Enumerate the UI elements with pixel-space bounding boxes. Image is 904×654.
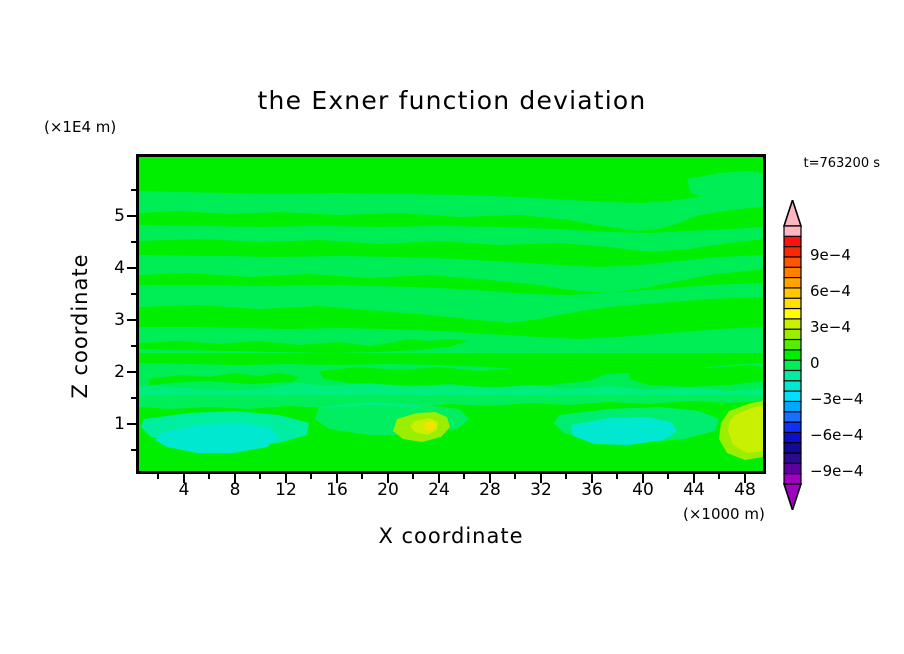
x-ticklabel: 20: [366, 480, 410, 500]
x-ticklabel: 16: [315, 480, 359, 500]
x-tick-minor: [361, 474, 363, 479]
colorbar-label: −3e−4: [810, 390, 863, 408]
x-ticklabel: 44: [672, 480, 716, 500]
x-tick-minor: [565, 474, 567, 479]
timestamp-label: t=763200 s: [803, 156, 880, 171]
y-ticklabel: 5: [95, 206, 125, 226]
x-axis-unit-label: (×1000 m): [683, 505, 765, 523]
colorbar: [783, 200, 802, 510]
y-ticklabel: 1: [95, 414, 125, 434]
x-ticklabel: 36: [570, 480, 614, 500]
y-axis-title: Z coordinate: [68, 226, 92, 426]
x-tick-minor: [514, 474, 516, 479]
y-tick-minor: [131, 397, 136, 399]
y-tick-minor: [131, 241, 136, 243]
y-tick-minor: [131, 449, 136, 451]
y-ticklabel: 2: [95, 362, 125, 382]
x-ticklabel: 28: [468, 480, 512, 500]
x-tick-minor: [463, 474, 465, 479]
colorbar-scale: [783, 200, 802, 510]
z-axis-unit-label: (×1E4 m): [44, 118, 116, 136]
x-tick-minor: [310, 474, 312, 479]
page-title: the Exner function deviation: [0, 86, 904, 115]
colorbar-label: 9e−4: [810, 246, 851, 264]
y-ticklabel: 4: [95, 258, 125, 278]
x-tick-minor: [412, 474, 414, 479]
colorbar-label: −9e−4: [810, 462, 863, 480]
contour-field: [139, 157, 763, 471]
y-tick-4: [127, 267, 136, 269]
y-tick-minor: [131, 345, 136, 347]
colorbar-label: 3e−4: [810, 318, 851, 336]
y-tick-5: [127, 215, 136, 217]
contour-plot-figure: the Exner function deviation (×1E4 m) t=…: [0, 0, 904, 654]
x-ticklabel: 48: [723, 480, 767, 500]
colorbar-label: −6e−4: [810, 426, 863, 444]
colorbar-label: 6e−4: [810, 282, 851, 300]
x-ticklabel: 4: [162, 480, 206, 500]
y-tick-3: [127, 319, 136, 321]
y-ticklabel: 3: [95, 310, 125, 330]
x-ticklabel: 8: [213, 480, 257, 500]
x-ticklabel: 24: [417, 480, 461, 500]
colorbar-label: 0: [810, 354, 820, 372]
x-tick-minor: [157, 474, 159, 479]
y-tick-minor: [131, 189, 136, 191]
x-tick-minor: [208, 474, 210, 479]
x-axis-title: X coordinate: [136, 524, 766, 548]
y-tick-2: [127, 371, 136, 373]
x-tick-minor: [718, 474, 720, 479]
contour-plot-area: [136, 154, 766, 474]
x-ticklabel: 12: [264, 480, 308, 500]
y-tick-1: [127, 423, 136, 425]
x-ticklabel: 40: [621, 480, 665, 500]
y-tick-minor: [131, 293, 136, 295]
x-tick-minor: [259, 474, 261, 479]
x-tick-minor: [667, 474, 669, 479]
x-ticklabel: 32: [519, 480, 563, 500]
x-tick-minor: [616, 474, 618, 479]
